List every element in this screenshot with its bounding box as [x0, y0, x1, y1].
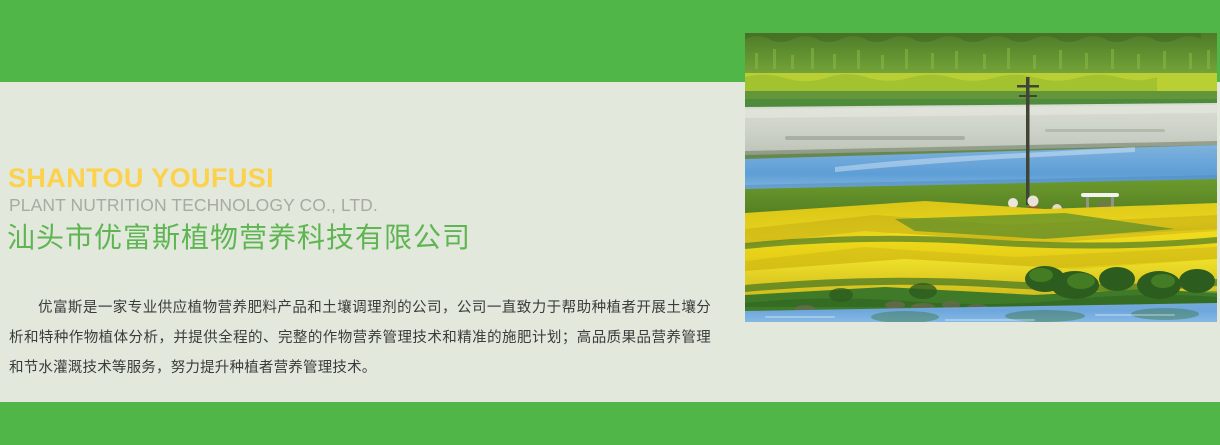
bottom-green-band [0, 402, 1220, 445]
brand-name-english: SHANTOU YOUFUSI [8, 165, 274, 192]
brand-tagline-english: PLANT NUTRITION TECHNOLOGY CO., LTD. [9, 197, 378, 215]
brand-name-chinese: 汕头市优富斯植物营养科技有限公司 [7, 220, 471, 255]
farmland-photo [745, 33, 1217, 322]
farmland-photo-illustration [745, 33, 1217, 322]
company-description-paragraph: 优富斯是一家专业供应植物营养肥料产品和土壤调理剂的公司，公司一直致力于帮助种植者… [9, 293, 711, 383]
company-intro-section: SHANTOU YOUFUSI PLANT NUTRITION TECHNOLO… [0, 82, 745, 402]
landing-page: SHANTOU YOUFUSI PLANT NUTRITION TECHNOLO… [0, 0, 1220, 445]
